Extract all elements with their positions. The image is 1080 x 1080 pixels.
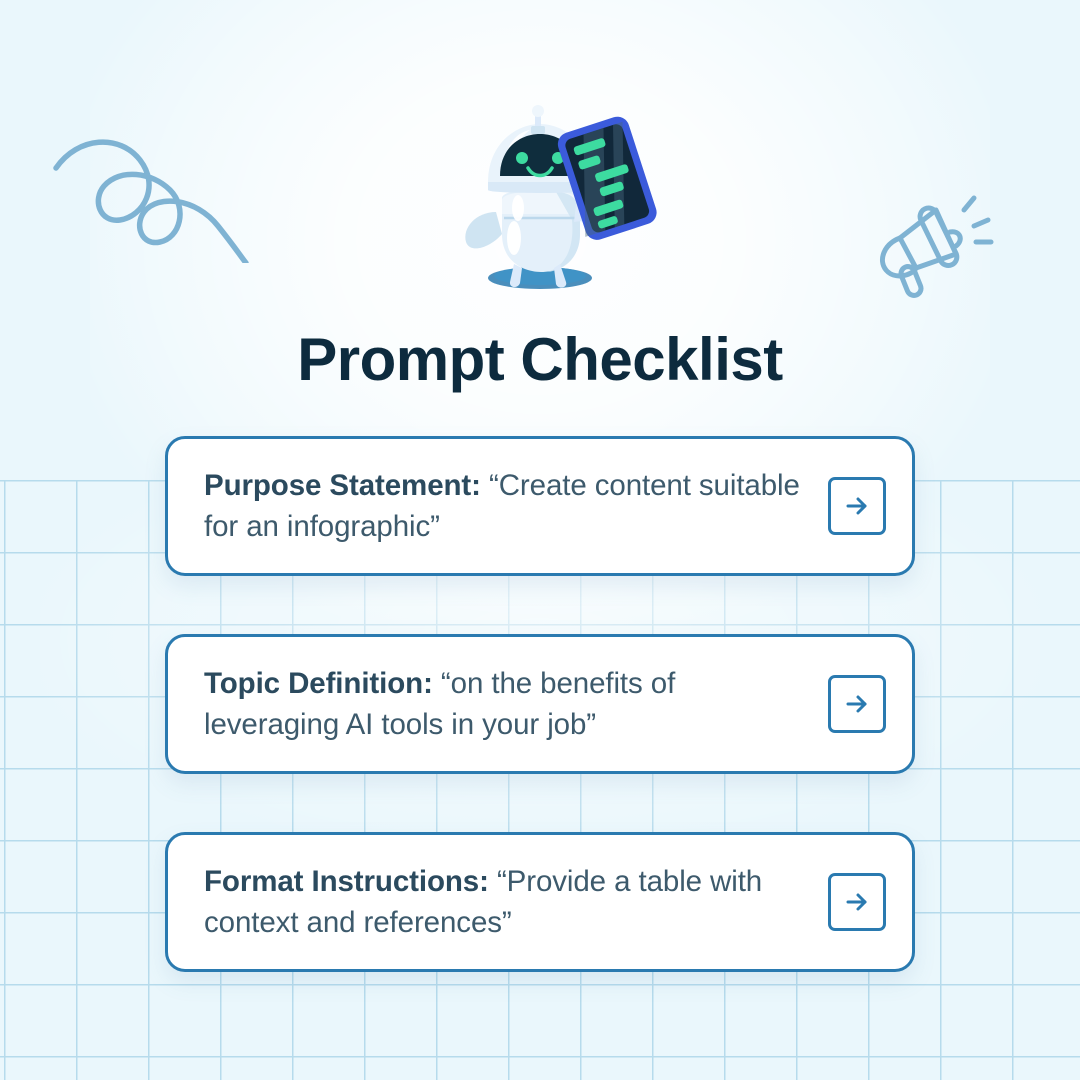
checklist-card-label: Topic Definition: xyxy=(204,667,433,700)
megaphone-icon xyxy=(864,192,994,304)
arrow-right-icon xyxy=(842,887,872,917)
checklist-container: Purpose Statement: “Create content suita… xyxy=(165,436,915,1030)
checklist-card[interactable]: Format Instructions: “Provide a table wi… xyxy=(165,832,915,972)
checklist-card-text: Format Instructions: “Provide a table wi… xyxy=(204,861,828,943)
arrow-right-icon xyxy=(842,689,872,719)
checklist-card-label: Format Instructions: xyxy=(204,865,489,898)
checklist-card[interactable]: Purpose Statement: “Create content suita… xyxy=(165,436,915,576)
checklist-card-text: Topic Definition: “on the benefits of le… xyxy=(204,663,828,745)
checklist-card-text: Purpose Statement: “Create content suita… xyxy=(204,465,828,547)
robot-mascot-icon xyxy=(452,100,664,300)
arrow-right-button[interactable] xyxy=(828,477,886,535)
arrow-right-button[interactable] xyxy=(828,873,886,931)
page-title: Prompt Checklist xyxy=(0,325,1080,394)
infographic-canvas: Prompt Checklist Purpose Statement: “Cre… xyxy=(0,0,1080,1080)
arrow-right-button[interactable] xyxy=(828,675,886,733)
arrow-right-icon xyxy=(842,491,872,521)
curly-squiggle-icon xyxy=(48,128,268,263)
checklist-card[interactable]: Topic Definition: “on the benefits of le… xyxy=(165,634,915,774)
checklist-card-label: Purpose Statement: xyxy=(204,469,481,502)
